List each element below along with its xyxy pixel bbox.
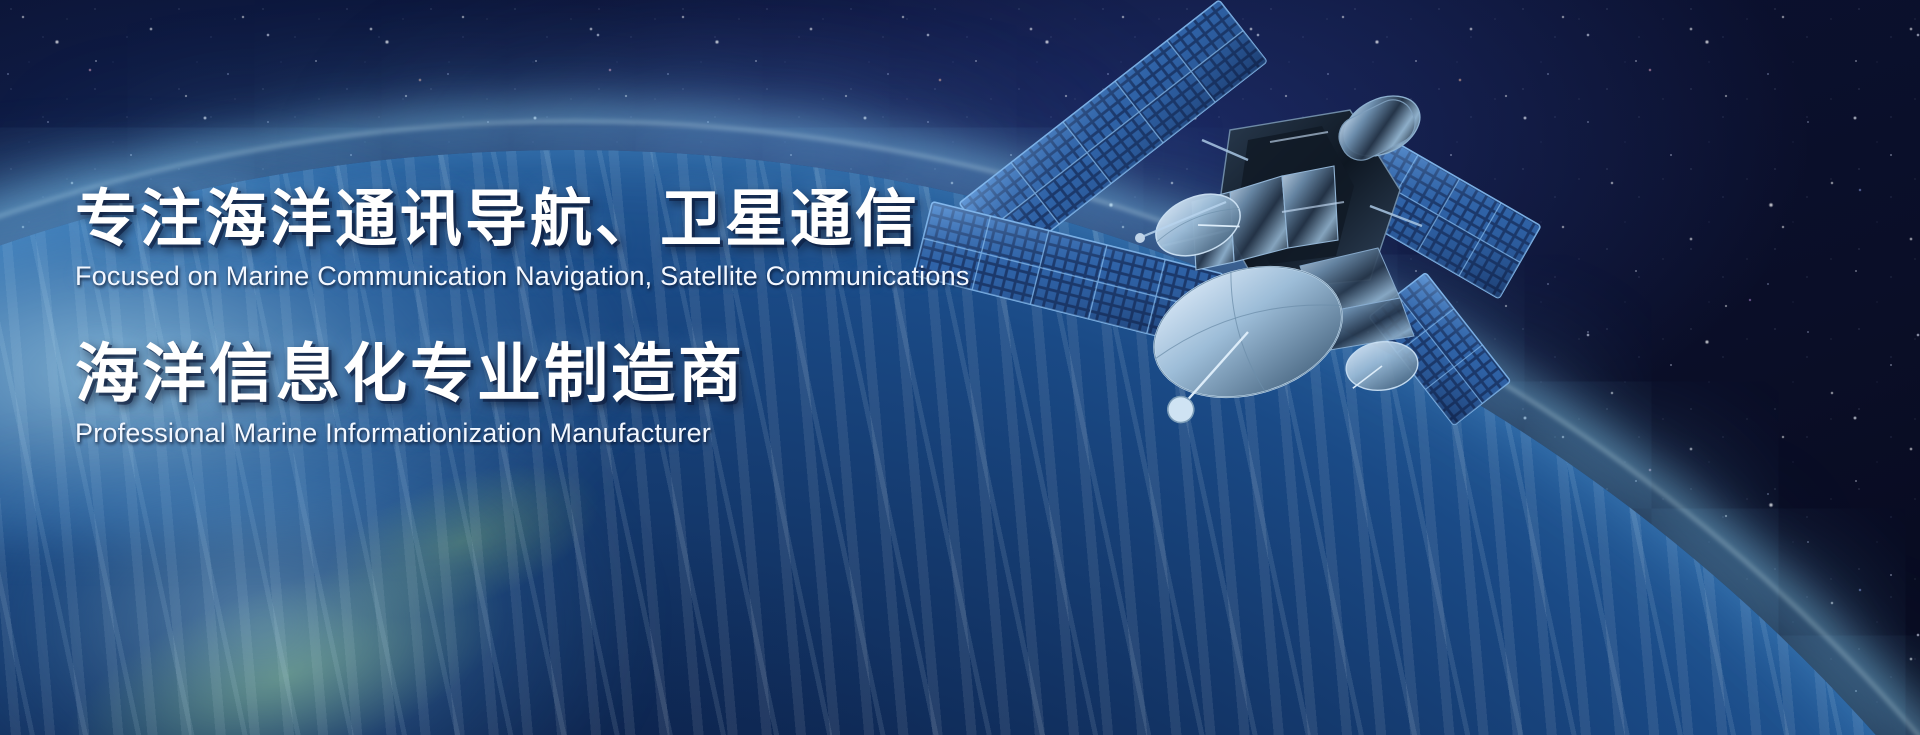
headline-group-2: 海洋信息化专业制造商 Professional Marine Informati… — [75, 339, 1075, 449]
headline-en-2: Professional Marine Informationization M… — [75, 417, 1075, 449]
corner-haze — [0, 455, 640, 735]
headline-en-1: Focused on Marine Communication Navigati… — [75, 260, 1075, 292]
headline-cn-2: 海洋信息化专业制造商 — [75, 339, 1075, 411]
banner-copy: 专注海洋通讯导航、卫星通信 Focused on Marine Communic… — [75, 185, 1075, 449]
hero-banner: 专注海洋通讯导航、卫星通信 Focused on Marine Communic… — [0, 0, 1920, 735]
headline-group-1: 专注海洋通讯导航、卫星通信 Focused on Marine Communic… — [75, 185, 1075, 293]
headline-cn-1: 专注海洋通讯导航、卫星通信 — [75, 185, 1075, 254]
